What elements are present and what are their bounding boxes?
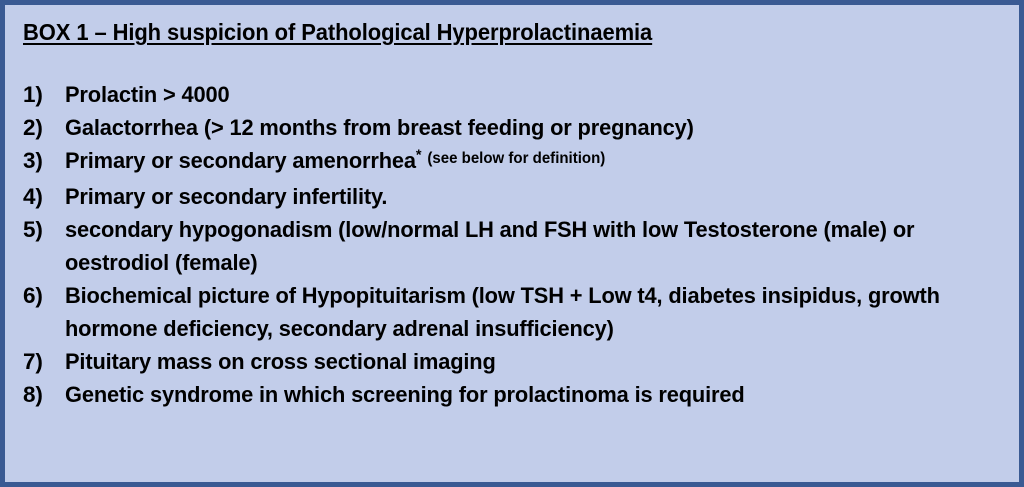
list-item-text: Primary or secondary amenorrhea	[65, 148, 416, 173]
asterisk-marker: *	[416, 147, 422, 164]
list-item: 1) Prolactin > 4000	[19, 78, 1011, 111]
box-1-container: BOX 1 – High suspicion of Pathological H…	[0, 0, 1024, 487]
list-item-text: Primary or secondary infertility.	[65, 180, 983, 213]
list-item: 6) Biochemical picture of Hypopituitaris…	[19, 279, 1011, 345]
list-item-text-group: Primary or secondary amenorrhea* (see be…	[65, 144, 983, 180]
list-item: 3) Primary or secondary amenorrhea* (see…	[19, 144, 1011, 180]
list-item-text: Genetic syndrome in which screening for …	[65, 378, 983, 411]
title-list-spacer	[19, 46, 1011, 78]
list-item-number: 8)	[23, 378, 65, 411]
list-item-number: 2)	[23, 111, 65, 144]
list-item-number: 1)	[23, 78, 65, 111]
criteria-list: 1) Prolactin > 4000 2) Galactorrhea (> 1…	[19, 78, 1011, 411]
list-item: 2) Galactorrhea (> 12 months from breast…	[19, 111, 1011, 144]
list-item: 8) Genetic syndrome in which screening f…	[19, 378, 1011, 411]
list-item: 7) Pituitary mass on cross sectional ima…	[19, 345, 1011, 378]
list-item-number: 3)	[23, 144, 65, 177]
list-item: 5) secondary hypogonadism (low/normal LH…	[19, 213, 1011, 279]
list-item-number: 7)	[23, 345, 65, 378]
list-item: 4) Primary or secondary infertility.	[19, 180, 1011, 213]
list-item-text: Galactorrhea (> 12 months from breast fe…	[65, 111, 983, 144]
list-item-number: 4)	[23, 180, 65, 213]
box-content: BOX 1 – High suspicion of Pathological H…	[5, 5, 1019, 411]
list-item-text: Pituitary mass on cross sectional imagin…	[65, 345, 983, 378]
list-item-text: secondary hypogonadism (low/normal LH an…	[65, 213, 983, 279]
page-title: BOX 1 – High suspicion of Pathological H…	[23, 19, 652, 46]
list-item-text: Biochemical picture of Hypopituitarism (…	[65, 279, 983, 345]
list-item-number: 6)	[23, 279, 65, 312]
box-title-row: BOX 1 – High suspicion of Pathological H…	[19, 19, 1011, 46]
list-item-note: (see below for definition)	[427, 150, 605, 167]
list-item-number: 5)	[23, 213, 65, 246]
list-item-text: Prolactin > 4000	[65, 78, 983, 111]
